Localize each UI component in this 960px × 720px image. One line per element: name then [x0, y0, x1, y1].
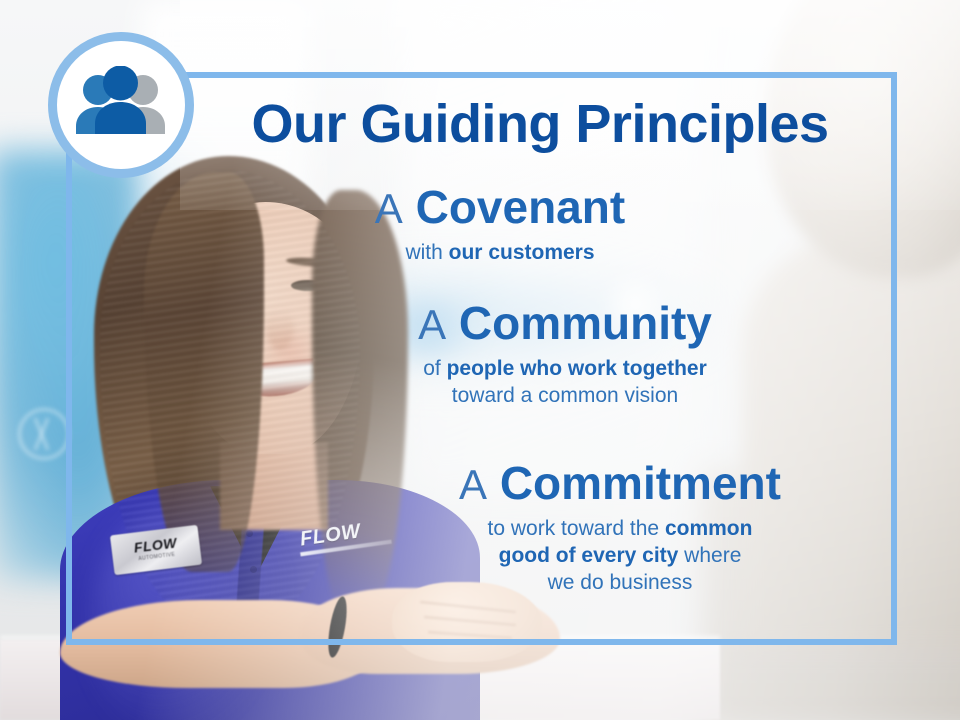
- poster-canvas: FLOW AUTOMOTIVE FLOW: [0, 0, 960, 720]
- people-badge: [48, 32, 194, 178]
- regular-text: of: [423, 357, 446, 380]
- emphasis-text: good of every city: [499, 544, 679, 567]
- principle-keyword: Covenant: [416, 181, 626, 233]
- regular-text: toward a common vision: [452, 384, 678, 407]
- people-group-icon: [69, 66, 173, 145]
- principle-description: of people who work togethertoward a comm…: [330, 356, 800, 410]
- principle-keyword: Commitment: [500, 457, 781, 509]
- emphasis-text: our customers: [449, 241, 595, 264]
- regular-text: to work toward the: [488, 517, 665, 540]
- principle-block-covenant: A Covenant with our customers: [270, 184, 730, 267]
- principle-article: A: [418, 301, 446, 348]
- principle-description: to work toward the commongood of every c…: [370, 516, 870, 597]
- principle-headline: A Commitment: [370, 460, 870, 507]
- emphasis-text: people who work together: [447, 357, 707, 380]
- regular-text: we do business: [548, 571, 693, 594]
- principle-headline: A Community: [330, 300, 800, 347]
- principle-article: A: [459, 461, 487, 508]
- regular-text: with: [405, 241, 448, 264]
- principle-keyword: Community: [459, 297, 712, 349]
- principle-description: with our customers: [270, 240, 730, 267]
- principle-block-community: A Community of people who work togethert…: [330, 300, 800, 410]
- principle-article: A: [375, 185, 403, 232]
- page-title: Our Guiding Principles: [200, 93, 880, 155]
- emphasis-text: common: [665, 517, 753, 540]
- regular-text: where: [678, 544, 741, 567]
- principle-headline: A Covenant: [270, 184, 730, 231]
- principle-block-commitment: A Commitment to work toward the commongo…: [370, 460, 870, 597]
